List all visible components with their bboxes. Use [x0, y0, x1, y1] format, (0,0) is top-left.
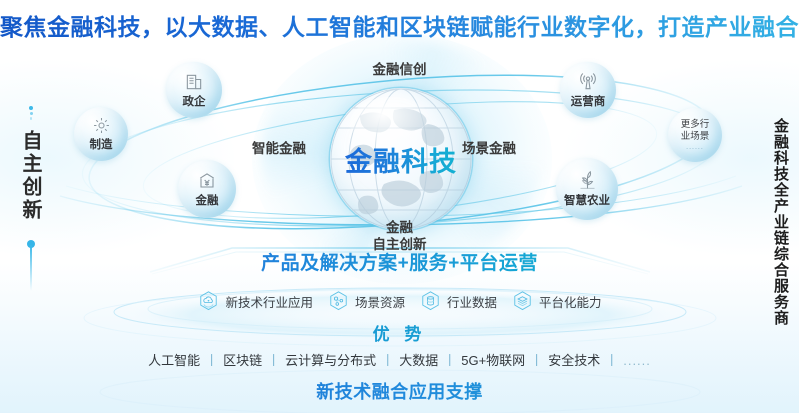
- capability-item-new-tech-application[interactable]: 新技术行业应用: [197, 290, 313, 313]
- cloud-hex-icon: [197, 290, 220, 313]
- central-globe: 金融科技: [330, 88, 472, 230]
- globe-label-top: 金融信创: [0, 58, 799, 78]
- globe-title: 金融科技: [330, 140, 472, 179]
- tech-item: 安全技术: [548, 353, 600, 368]
- bubble-label: 金融: [196, 192, 219, 208]
- globe-label-bottom-line1: 金融: [0, 220, 799, 237]
- capability-label: 新技术行业应用: [225, 292, 313, 311]
- tech-separator: 丨: [443, 353, 456, 368]
- tech-item: 区块链: [223, 353, 262, 368]
- bubble-telecom-operator[interactable]: 运营商: [560, 62, 616, 118]
- capability-label: 行业数据: [447, 292, 497, 311]
- bubble-label: 运营商: [571, 93, 606, 109]
- bank-yuan-icon: [197, 171, 217, 191]
- tech-separator: 丨: [605, 353, 618, 368]
- tech-item: 大数据: [399, 353, 438, 368]
- globe-label-left: 智能金融: [252, 137, 306, 157]
- tech-support-list: 人工智能丨区块链丨云计算与分布式丨大数据丨5G+物联网丨安全技术丨......: [0, 350, 799, 369]
- bubble-smart-agriculture[interactable]: 智慧农业: [556, 158, 618, 220]
- left-caption-dots: [26, 104, 36, 122]
- antenna-signal-icon: [578, 72, 598, 92]
- value-proposition-text: 产品及解决方案+服务+平台运营: [0, 248, 799, 275]
- advantage-title: 优 势: [0, 320, 799, 345]
- left-vertical-caption: 自主创新: [16, 130, 45, 222]
- globe-label-right: 场景金融: [462, 137, 516, 157]
- tech-separator: 丨: [267, 353, 280, 368]
- bubble-label: 智慧农业: [564, 192, 610, 208]
- capability-item-scenario-resources[interactable]: 场景资源: [327, 290, 405, 313]
- building-icon: [184, 72, 204, 92]
- layers-hex-icon: [511, 290, 534, 313]
- capability-label: 场景资源: [355, 292, 405, 311]
- capability-item-industry-data[interactable]: 行业数据: [419, 290, 497, 313]
- tech-item: 5G+物联网: [461, 353, 525, 368]
- tech-separator: 丨: [381, 353, 394, 368]
- tech-separator: 丨: [205, 353, 218, 368]
- capability-item-platform-capability[interactable]: 平台化能力: [511, 290, 602, 313]
- bubble-government-enterprise[interactable]: 政企: [166, 62, 222, 118]
- capability-label: 平台化能力: [539, 292, 602, 311]
- bubble-more-scenarios[interactable]: 更多行 业场景 ......: [668, 108, 722, 162]
- bubble-ellipsis: ......: [686, 144, 704, 151]
- tech-item: 云计算与分布式: [285, 353, 376, 368]
- page-title: 聚焦金融科技，以大数据、人工智能和区块链赋能行业数字化，打造产业融合新生态: [0, 8, 799, 42]
- tech-item: 人工智能: [148, 353, 200, 368]
- tech-separator: 丨: [530, 353, 543, 368]
- wheat-icon: [577, 170, 598, 191]
- database-hex-icon: [419, 290, 442, 313]
- bubble-label: 制造: [90, 136, 113, 152]
- tech-support-footer: 新技术融合应用支撑: [0, 378, 799, 404]
- bubble-label-line1: 更多行: [681, 120, 710, 131]
- bubble-label-line2: 业场景: [681, 132, 710, 143]
- tech-ellipsis: ......: [623, 353, 651, 368]
- gear-icon: [92, 116, 111, 135]
- capability-row: 新技术行业应用 场景资源 行业数据: [0, 290, 799, 313]
- infographic-canvas: 聚焦金融科技，以大数据、人工智能和区块链赋能行业数字化，打造产业融合新生态 自主…: [0, 0, 799, 413]
- network-hex-icon: [327, 290, 350, 313]
- bubble-manufacturing[interactable]: 制造: [74, 107, 128, 161]
- bubble-finance[interactable]: 金融: [178, 160, 236, 218]
- bubble-label: 政企: [183, 93, 206, 109]
